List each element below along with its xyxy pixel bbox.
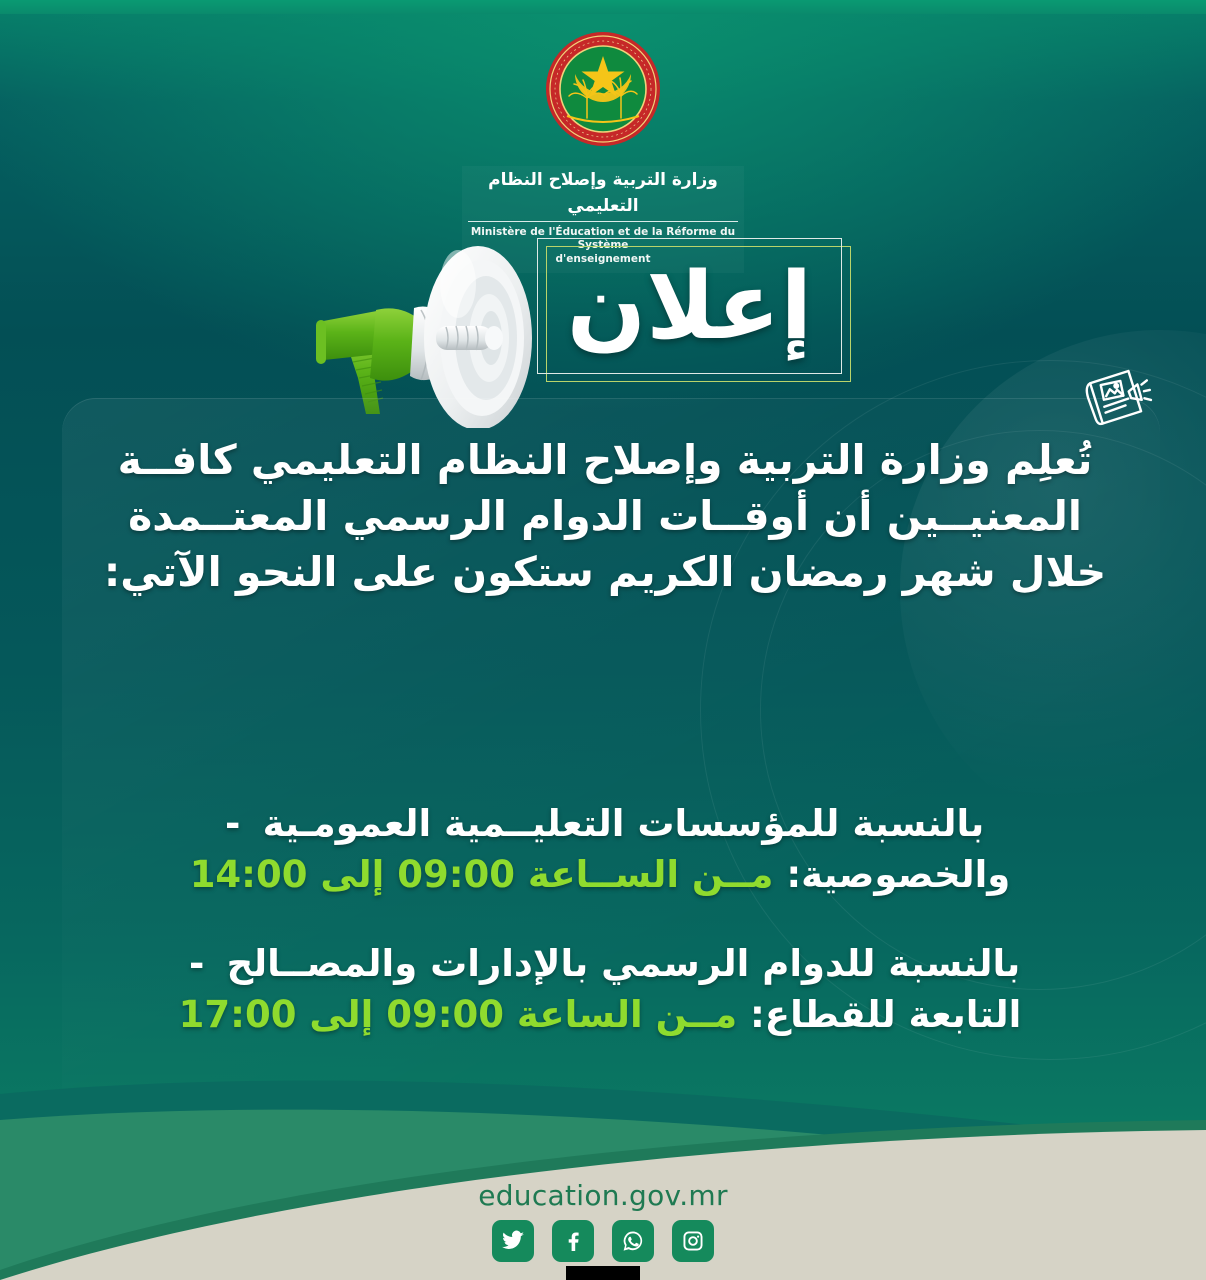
bullet-text-2: بالنسبة للدوام الرسمي بالإدارات والمصــا…	[227, 942, 1021, 985]
announcement-title-block: إعلان	[300, 222, 860, 412]
bullet-label-2: التابعة للقطاع:	[750, 993, 1021, 1036]
ministry-name-ar: وزارة التربية وإصلاح النظام التعليمي	[468, 168, 738, 222]
facebook-icon[interactable]	[552, 1220, 594, 1262]
body-line-2: المعنيــين أن أوقــات الدوام الرسمي المع…	[70, 488, 1140, 544]
website-url[interactable]: education.gov.mr	[0, 1179, 1206, 1212]
announcement-poster: وزارة التربية وإصلاح النظام التعليمي Min…	[0, 0, 1206, 1280]
social-links	[0, 1220, 1206, 1262]
bullet-hours-1: مــن الســاعة 09:00 إلى 14:00	[190, 853, 774, 896]
top-accent-band	[0, 0, 1206, 14]
body-line-1: تُعلِم وزارة التربية وإصلاح النظام التعل…	[70, 432, 1140, 488]
bullet-marker: -	[180, 938, 214, 989]
announcement-title: إعلان	[537, 238, 842, 374]
bullet-hours-2: مــن الساعة 09:00 إلى 17:00	[179, 993, 737, 1036]
bottom-black-bar	[566, 1266, 640, 1280]
list-item: بالنسبة للمؤسسات التعليــمية العمومـية -…	[90, 798, 1110, 900]
footer: education.gov.mr	[0, 1179, 1206, 1262]
bullet-marker: -	[216, 798, 250, 849]
twitter-icon[interactable]	[492, 1220, 534, 1262]
announcement-body: تُعلِم وزارة التربية وإصلاح النظام التعل…	[70, 432, 1140, 600]
whatsapp-icon[interactable]	[612, 1220, 654, 1262]
national-emblem	[539, 30, 667, 148]
instagram-icon[interactable]	[672, 1220, 714, 1262]
schedule-list: بالنسبة للمؤسسات التعليــمية العمومـية -…	[90, 798, 1110, 1078]
body-line-3: خلال شهر رمضان الكريم ستكون على النحو ال…	[70, 544, 1140, 600]
bullet-text-1: بالنسبة للمؤسسات التعليــمية العمومـية	[263, 802, 985, 845]
list-item: بالنسبة للدوام الرسمي بالإدارات والمصــا…	[90, 938, 1110, 1040]
bullet-label-1: والخصوصية:	[786, 853, 1010, 896]
